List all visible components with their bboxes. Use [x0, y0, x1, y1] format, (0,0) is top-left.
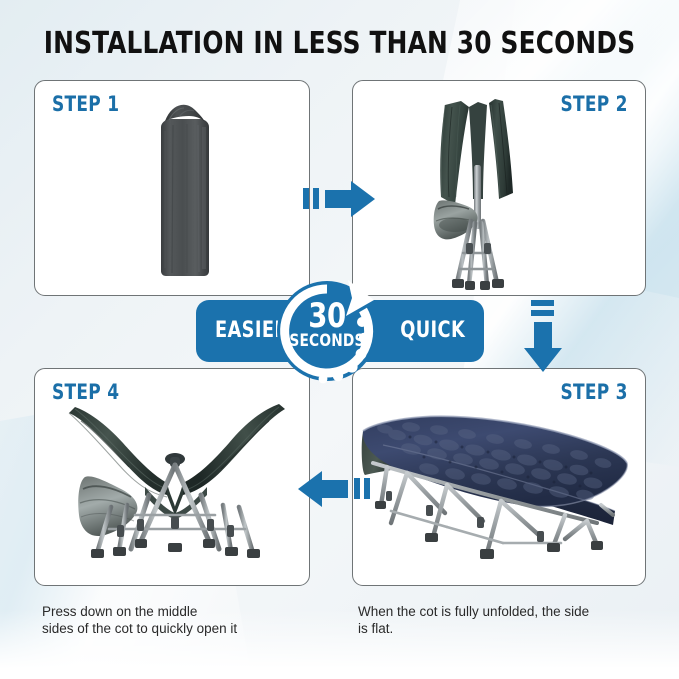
arrow-step3-to-step4 — [296, 468, 370, 510]
folded-cot-illustration — [411, 93, 546, 293]
arrow-left-icon — [296, 468, 370, 510]
step-panel-3: STEP 3 — [352, 368, 646, 586]
step-panel-4: STEP 4 — [34, 368, 310, 586]
arrow-step2-to-step3 — [520, 300, 566, 374]
step-label-2: STEP 2 — [561, 92, 628, 116]
arrow-step1-to-step2 — [303, 178, 377, 220]
step-label-1: STEP 1 — [52, 92, 119, 116]
opening-cot-illustration — [49, 399, 301, 575]
timer-circle-icon — [268, 272, 386, 390]
infographic-page: INSTALLATION IN LESS THAN 30 SECONDS STE… — [0, 0, 679, 679]
caption-step-4: Press down on the middle sides of the co… — [42, 603, 312, 637]
step-panel-1: STEP 1 — [34, 80, 310, 296]
step-panel-2: STEP 2 — [352, 80, 646, 296]
caption-step-3: When the cot is fully unfolded, the side… — [358, 603, 648, 637]
page-title: INSTALLATION IN LESS THAN 30 SECONDS — [27, 26, 652, 61]
unfolded-cot-illustration — [352, 387, 646, 569]
arrow-right-icon — [303, 178, 377, 220]
badge-label-quick: QUICK — [400, 300, 465, 362]
arrow-down-icon — [520, 300, 566, 374]
speed-badge: EASIER QUICK 30 SECONDS — [196, 300, 484, 362]
carry-bag-illustration — [155, 103, 215, 278]
